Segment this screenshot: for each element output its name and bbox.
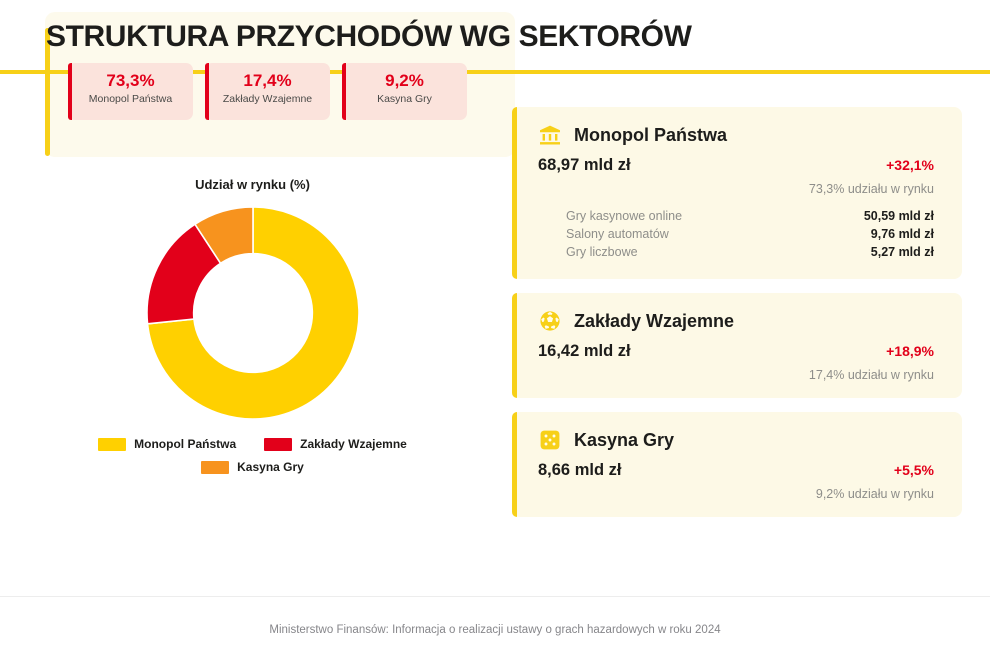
chart-column: Udział w rynku (%) Monopol Państwa Zakła… xyxy=(0,165,505,495)
sector-card-value: 16,42 mld zł xyxy=(538,342,631,361)
sector-subitem-value: 9,76 mld zł xyxy=(871,227,934,241)
legend-swatch-icon xyxy=(264,438,292,451)
sector-card-share: 9,2% udziału w rynku xyxy=(538,487,934,501)
sector-card-title: Monopol Państwa xyxy=(574,125,727,146)
summary-badge-label: Kasyna Gry xyxy=(342,91,467,107)
legend-row-top: Monopol Państwa Zakłady Wzajemne xyxy=(0,437,505,451)
dice-icon xyxy=(538,428,562,452)
legend-label: Zakłady Wzajemne xyxy=(300,437,407,451)
legend-swatch-icon xyxy=(201,461,229,474)
legend-label: Kasyna Gry xyxy=(237,460,304,474)
infographic-page: STRUKTURA PRZYCHODÓW WG SEKTORÓW 73,3% M… xyxy=(0,0,990,661)
soccer-ball-icon xyxy=(538,309,562,333)
sector-card-kasyna[interactable]: Kasyna Gry 8,66 mld zł +5,5% 9,2% udział… xyxy=(512,412,962,517)
sector-subitem-name: Gry liczbowe xyxy=(566,245,638,259)
sector-card-value: 8,66 mld zł xyxy=(538,461,621,480)
legend-item-monopol: Monopol Państwa xyxy=(98,437,236,451)
sector-card-figures: 8,66 mld zł +5,5% xyxy=(538,461,934,480)
sector-card-figures: 16,42 mld zł +18,9% xyxy=(538,342,934,361)
legend-row-bottom: Kasyna Gry xyxy=(0,460,505,474)
legend-label: Monopol Państwa xyxy=(134,437,236,451)
legend-item-zaklady: Zakłady Wzajemne xyxy=(264,437,407,451)
sector-card-value: 68,97 mld zł xyxy=(538,156,631,175)
summary-badge-percent: 17,4% xyxy=(205,71,330,91)
sector-card-zaklady[interactable]: Zakłady Wzajemne 16,42 mld zł +18,9% 17,… xyxy=(512,293,962,398)
chart-legend: Monopol Państwa Zakłady Wzajemne Kasyna … xyxy=(0,437,505,483)
sector-subitem-row: Gry liczbowe 5,27 mld zł xyxy=(538,245,934,259)
donut-chart-svg xyxy=(143,203,363,423)
sector-card-change: +18,9% xyxy=(886,343,934,359)
legend-swatch-icon xyxy=(98,438,126,451)
sector-card-change: +5,5% xyxy=(894,462,934,478)
chart-title: Udział w rynku (%) xyxy=(0,177,505,192)
sector-subitem-name: Salony automatów xyxy=(566,227,669,241)
sector-card-title: Zakłady Wzajemne xyxy=(574,311,734,332)
sector-card-header: Monopol Państwa xyxy=(538,123,934,147)
sector-card-title: Kasyna Gry xyxy=(574,430,674,451)
summary-badge-zaklady: 17,4% Zakłady Wzajemne xyxy=(205,63,330,120)
sector-card-share: 17,4% udziału w rynku xyxy=(538,368,934,382)
sector-card-monopol[interactable]: Monopol Państwa 68,97 mld zł +32,1% 73,3… xyxy=(512,107,962,279)
summary-badge-label: Monopol Państwa xyxy=(68,91,193,107)
sector-card-change: +32,1% xyxy=(886,157,934,173)
donut-chart xyxy=(143,203,363,423)
sector-subitem-value: 5,27 mld zł xyxy=(871,245,934,259)
sector-card-figures: 68,97 mld zł +32,1% xyxy=(538,156,934,175)
sector-card-header: Zakłady Wzajemne xyxy=(538,309,934,333)
summary-badge-monopol: 73,3% Monopol Państwa xyxy=(68,63,193,120)
sector-subitem-row: Salony automatów 9,76 mld zł xyxy=(538,227,934,241)
page-title: STRUKTURA PRZYCHODÓW WG SEKTORÓW xyxy=(46,20,692,54)
bank-icon xyxy=(538,123,562,147)
legend-item-kasyna: Kasyna Gry xyxy=(201,460,304,474)
sector-card-subitems: Gry kasynowe online 50,59 mld zł Salony … xyxy=(538,209,934,259)
summary-badge-percent: 73,3% xyxy=(68,71,193,91)
sector-card-list: Monopol Państwa 68,97 mld zł +32,1% 73,3… xyxy=(512,107,962,531)
footer-divider xyxy=(0,596,990,597)
summary-badge-row: 73,3% Monopol Państwa 17,4% Zakłady Wzaj… xyxy=(68,63,467,120)
source-note: Ministerstwo Finansów: Informacja o real… xyxy=(0,624,990,636)
summary-badge-percent: 9,2% xyxy=(342,71,467,91)
sector-card-header: Kasyna Gry xyxy=(538,428,934,452)
sector-card-share: 73,3% udziału w rynku xyxy=(538,182,934,196)
sector-subitem-row: Gry kasynowe online 50,59 mld zł xyxy=(538,209,934,223)
summary-badge-label: Zakłady Wzajemne xyxy=(205,91,330,107)
summary-badge-kasyna: 9,2% Kasyna Gry xyxy=(342,63,467,120)
sector-subitem-name: Gry kasynowe online xyxy=(566,209,682,223)
sector-subitem-value: 50,59 mld zł xyxy=(864,209,934,223)
